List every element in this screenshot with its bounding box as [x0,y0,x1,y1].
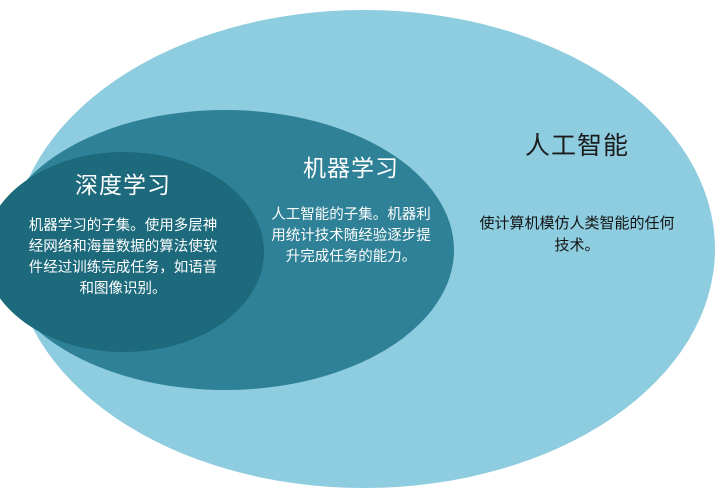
dl-layer-text: 深度学习 机器学习的子集。使用多层神经网络和海量数据的算法使软件经过训练完成任务… [10,172,236,301]
ai-description: 使计算机模仿人类智能的任何技术。 [452,213,702,257]
ai-title: 人工智能 [452,132,702,161]
ml-title: 机器学习 [258,155,444,181]
ml-description: 人工智能的子集。机器利用统计技术随经验逐步提升完成任务的能力。 [258,205,444,268]
dl-title: 深度学习 [10,172,236,198]
ai-layer-text: 人工智能 使计算机模仿人类智能的任何技术。 [452,132,702,256]
ml-layer-text: 机器学习 人工智能的子集。机器利用统计技术随经验逐步提升完成任务的能力。 [258,155,444,268]
dl-description: 机器学习的子集。使用多层神经网络和海量数据的算法使软件经过训练完成任务，如语音和… [10,216,236,300]
source-watermark: https://yunyaniu.blog.csdn.net [574,483,712,494]
venn-diagram-canvas: 人工智能 使计算机模仿人类智能的任何技术。 机器学习 人工智能的子集。机器利用统… [0,0,724,500]
